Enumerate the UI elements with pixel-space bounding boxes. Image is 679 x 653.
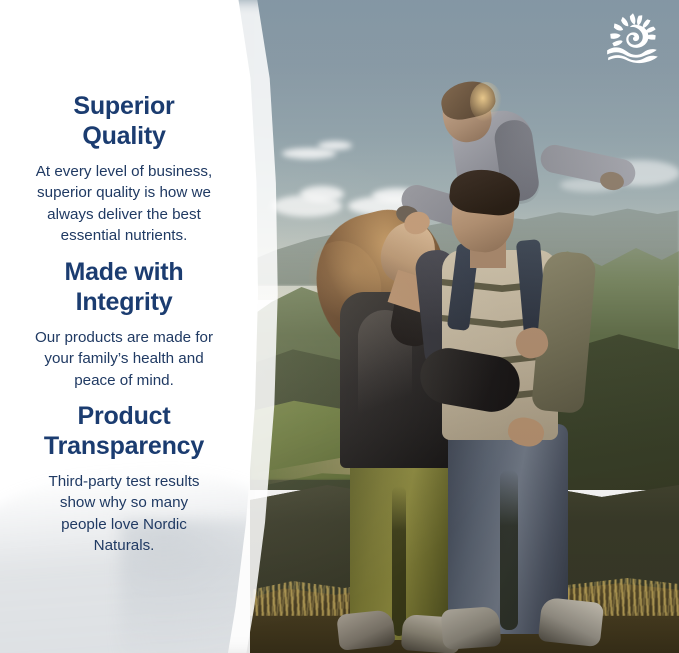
child-hair-sunlight [470, 82, 502, 122]
value-heading: Made with Integrity [0, 258, 248, 317]
value-heading: Superior Quality [0, 92, 248, 151]
cloud [318, 141, 352, 150]
woman-leg-shadow [392, 486, 406, 636]
cloud [300, 186, 344, 202]
man-shoe-left [441, 606, 502, 650]
value-heading: Product Transparency [0, 402, 248, 461]
man-leg-shadow [500, 470, 518, 630]
value-block-superior-quality: Superior Quality At every level of busin… [0, 92, 248, 246]
value-propositions: Superior Quality At every level of busin… [0, 0, 248, 653]
sun-over-waves-logo [603, 12, 665, 64]
value-body: Our products are made for your family’s … [0, 327, 248, 391]
value-block-product-transparency: Product Transparency Third-party test re… [0, 402, 248, 556]
value-body: At every level of business, superior qua… [0, 161, 248, 246]
value-body: Third-party test results show why so man… [0, 471, 248, 556]
nordic-naturals-brand-banner: Superior Quality At every level of busin… [0, 0, 679, 653]
value-block-made-with-integrity: Made with Integrity Our products are mad… [0, 258, 248, 391]
man-shoe-right [538, 597, 604, 647]
woman-shoe-left [336, 609, 395, 651]
